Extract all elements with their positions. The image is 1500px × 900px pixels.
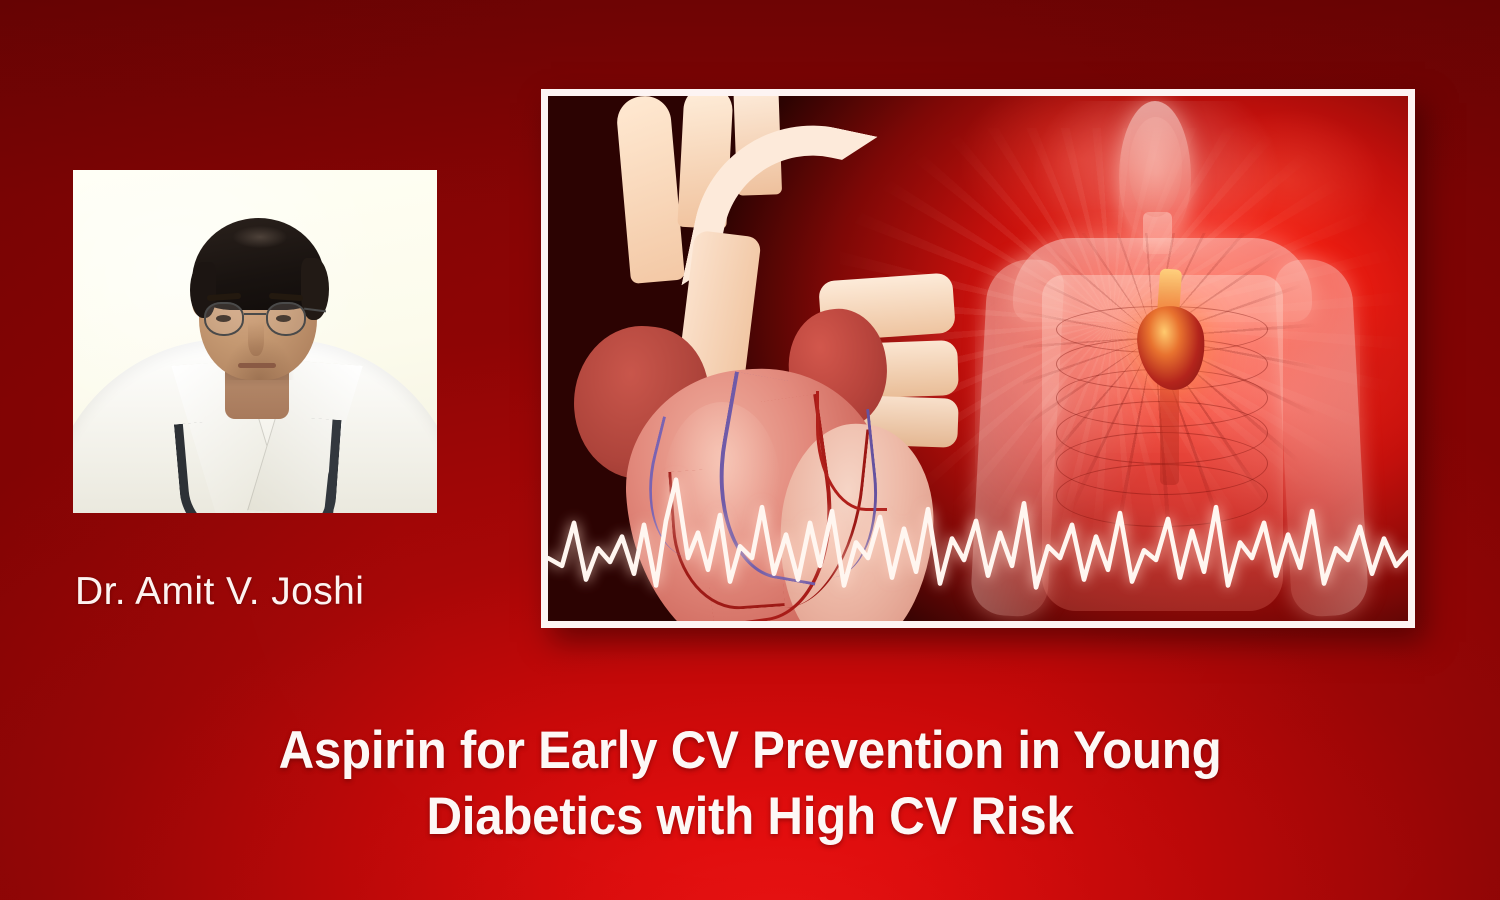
stethoscope-left-tube — [174, 420, 236, 513]
hair-highlight — [233, 226, 287, 248]
nose — [248, 322, 264, 356]
medical-illustration — [548, 96, 1408, 621]
eyeglasses-lens-left — [204, 302, 244, 336]
vessel-branch-1 — [615, 96, 685, 284]
speaker-name: Dr. Amit V. Joshi — [75, 570, 495, 614]
ecg-waveform — [548, 464, 1408, 611]
eyeglasses-lens-right — [266, 302, 306, 336]
presentation-title: Aspirin for Early CV Prevention in Young… — [0, 718, 1500, 850]
doctor-photo — [73, 170, 437, 513]
doctor-portrait-image — [73, 170, 437, 513]
mouth — [238, 363, 276, 368]
eyeglasses-bridge — [244, 313, 266, 315]
medical-image-frame — [541, 89, 1415, 628]
title-line-1: Aspirin for Early CV Prevention in Young — [164, 718, 1336, 784]
title-line-2: Diabetics with High CV Risk — [164, 784, 1336, 850]
presentation-card: Dr. Amit V. Joshi — [0, 0, 1500, 900]
